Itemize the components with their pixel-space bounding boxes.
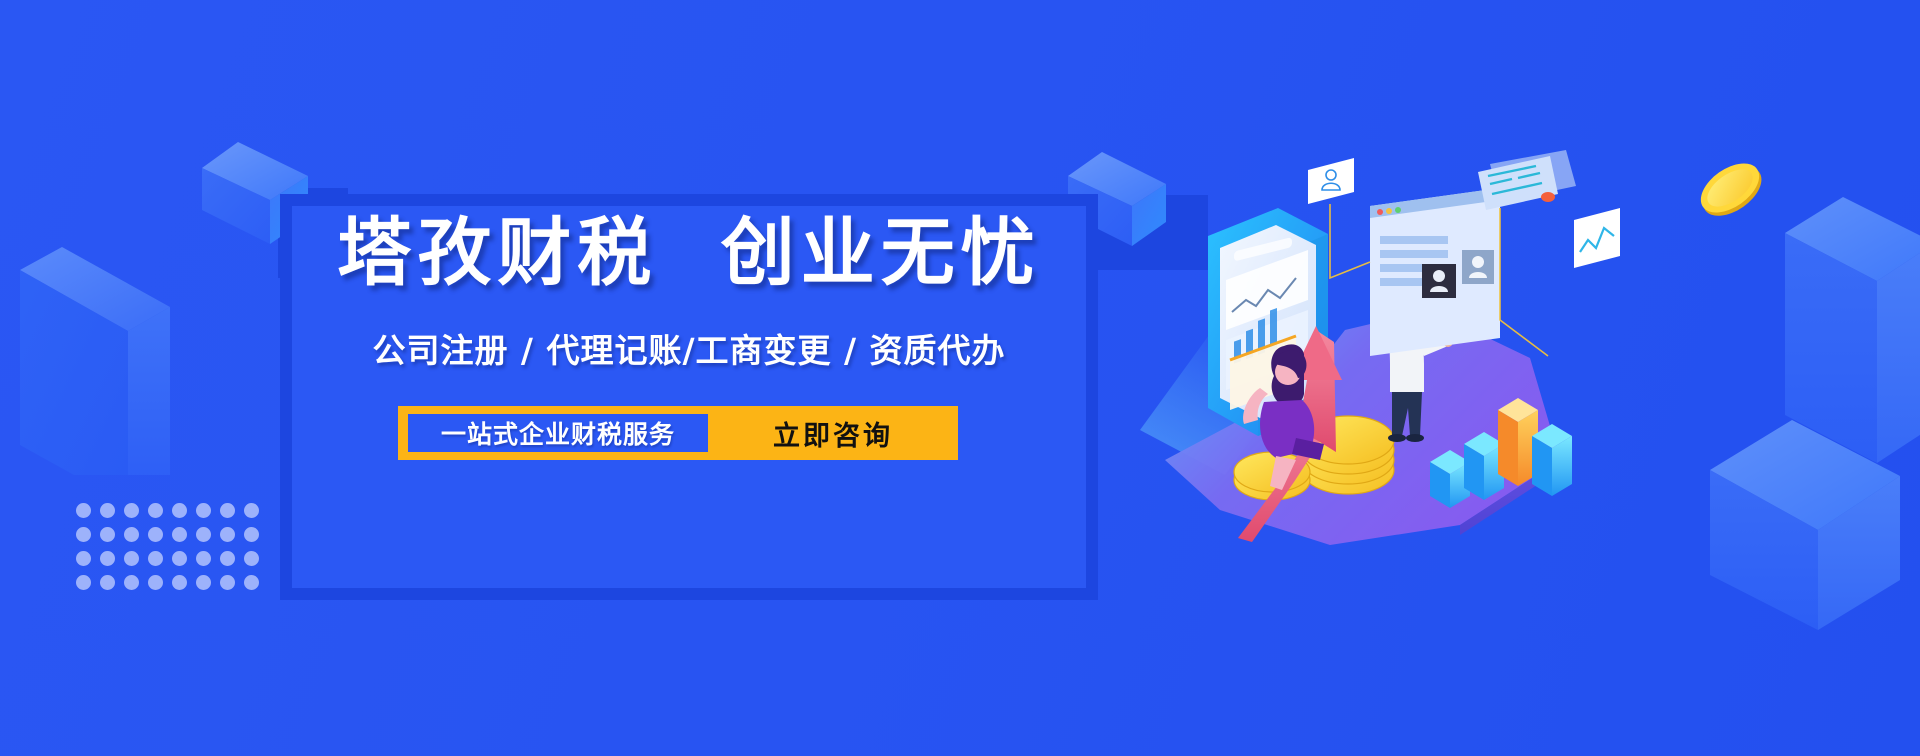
cta-tag-label: 一站式企业财税服务	[408, 414, 708, 452]
coin-top-right-icon	[1690, 148, 1770, 228]
isometric-finance-illustration	[1130, 130, 1620, 550]
iso-cube-right-shape	[1710, 400, 1900, 630]
promo-banner: 塔孜财税 创业无忧 公司注册 / 代理记账/工商变更 / 资质代办 一站式企业财…	[0, 0, 1920, 756]
dot-grid-decoration	[76, 503, 268, 599]
iso-box-left-shape	[20, 215, 170, 475]
service-list-subtitle: 公司注册 / 代理记账/工商变更 / 资质代办	[292, 334, 1086, 367]
headline-content: 塔孜财税 创业无忧 公司注册 / 代理记账/工商变更 / 资质代办 一站式企业财…	[292, 206, 1086, 588]
consult-now-button[interactable]: 立即咨询	[708, 414, 958, 453]
cta-bar[interactable]: 一站式企业财税服务 立即咨询	[398, 406, 958, 460]
page-title: 塔孜财税 创业无忧	[292, 216, 1086, 290]
